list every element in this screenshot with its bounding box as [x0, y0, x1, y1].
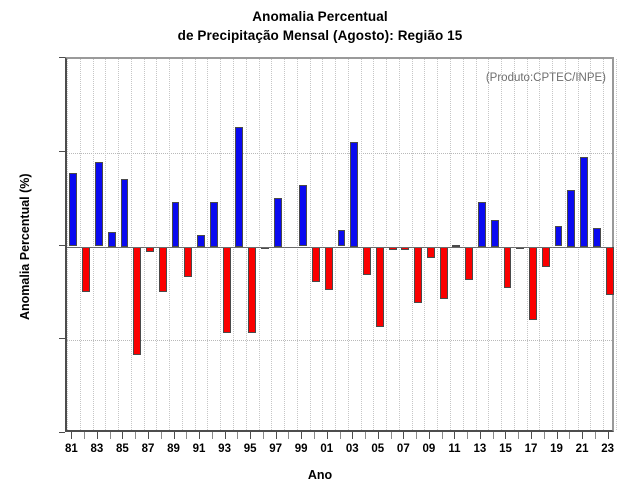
- bar-2019: [555, 226, 563, 247]
- bar-2018: [542, 247, 550, 268]
- x-tick-mark: [237, 432, 238, 439]
- x-tick-mark: [493, 432, 494, 439]
- bar-2020: [567, 190, 575, 246]
- bar-2010: [440, 247, 448, 300]
- bar-2004: [363, 247, 371, 275]
- bar-2000: [312, 247, 320, 283]
- x-tick-mark: [135, 432, 136, 439]
- x-tick-mark: [250, 432, 251, 439]
- x-tick-mark: [480, 432, 481, 439]
- bar-2001: [325, 247, 333, 290]
- x-tick-mark: [454, 432, 455, 439]
- x-tick-mark: [518, 432, 519, 439]
- x-tick-label: 95: [244, 443, 257, 455]
- x-tick-label: 89: [167, 443, 180, 455]
- bar-2009: [427, 247, 435, 258]
- x-tick-mark: [544, 432, 545, 439]
- x-tick-label: 07: [397, 443, 410, 455]
- x-tick-mark: [199, 432, 200, 439]
- x-tick-mark: [276, 432, 277, 439]
- x-tick-mark: [97, 432, 98, 439]
- bar-2012: [465, 247, 473, 281]
- x-tick-mark: [467, 432, 468, 439]
- bar-1989: [172, 202, 180, 247]
- bar-2013: [478, 202, 486, 247]
- bar-2015: [504, 247, 512, 288]
- plot-inner: [67, 59, 612, 430]
- bar-2008: [414, 247, 422, 303]
- x-tick-mark: [314, 432, 315, 439]
- chart-title-line-1: Anomalia Percentual: [0, 7, 640, 26]
- x-tick-label: 19: [550, 443, 563, 455]
- x-tick-mark: [569, 432, 570, 439]
- x-tick-mark: [416, 432, 417, 439]
- bar-2022: [593, 228, 601, 247]
- x-tick-label: 03: [346, 443, 359, 455]
- x-tick-label: 21: [576, 443, 589, 455]
- x-tick-mark: [84, 432, 85, 439]
- bar-1983: [95, 162, 103, 246]
- bar-1985: [121, 179, 129, 247]
- bar-1981: [69, 173, 77, 246]
- bar-2023: [606, 247, 614, 296]
- x-tick-label: 85: [116, 443, 129, 455]
- x-tick-mark: [340, 432, 341, 439]
- x-tick-label: 11: [448, 443, 460, 455]
- bar-1999: [299, 185, 307, 247]
- x-tick-label: 13: [474, 443, 487, 455]
- bar-1992: [210, 202, 218, 247]
- y-axis-label: Anomalia Percentual (%): [18, 173, 32, 320]
- x-tick-label: 97: [269, 443, 282, 455]
- x-tick-label: 17: [525, 443, 538, 455]
- x-tick-mark: [442, 432, 443, 439]
- x-tick-mark: [595, 432, 596, 439]
- chart-figure: Anomalia Percentual de Precipitação Mens…: [0, 0, 640, 500]
- x-tick-mark: [122, 432, 123, 439]
- x-tick-mark: [288, 432, 289, 439]
- x-tick-label: 09: [422, 443, 435, 455]
- bar-1993: [223, 247, 231, 333]
- x-tick-mark: [174, 432, 175, 439]
- x-tick-mark: [71, 432, 72, 439]
- x-tick-label: 05: [371, 443, 384, 455]
- chart-title-line-2: de Precipitação Mensal (Agosto): Região …: [0, 26, 640, 45]
- x-tick-mark: [365, 432, 366, 439]
- y-tick-mark: [59, 432, 65, 433]
- baseline-100: [67, 247, 612, 248]
- x-tick-mark: [327, 432, 328, 439]
- bar-1995: [248, 247, 256, 333]
- x-tick-mark: [403, 432, 404, 439]
- bars-layer: [67, 59, 612, 430]
- bar-1988: [159, 247, 167, 292]
- x-tick-label: 87: [142, 443, 155, 455]
- x-tick-label: 91: [193, 443, 206, 455]
- x-tick-mark: [582, 432, 583, 439]
- bar-2014: [491, 220, 499, 246]
- bar-2021: [580, 157, 588, 247]
- x-tick-mark: [110, 432, 111, 439]
- bar-2005: [376, 247, 384, 328]
- bar-1994: [235, 127, 243, 247]
- bar-1990: [184, 247, 192, 277]
- bar-2003: [350, 142, 358, 247]
- x-tick-mark: [505, 432, 506, 439]
- chart-title: Anomalia Percentual de Precipitação Mens…: [0, 7, 640, 45]
- bar-1984: [108, 232, 116, 247]
- x-tick-mark: [225, 432, 226, 439]
- gridline-vertical: [616, 59, 617, 430]
- product-annotation: (Produto:CPTEC/INPE): [486, 72, 606, 84]
- x-tick-label: 93: [218, 443, 231, 455]
- x-tick-mark: [352, 432, 353, 439]
- x-tick-mark: [212, 432, 213, 439]
- x-tick-mark: [429, 432, 430, 439]
- bar-2017: [529, 247, 537, 320]
- x-tick-label: 81: [65, 443, 78, 455]
- x-tick-mark: [557, 432, 558, 439]
- x-tick-label: 01: [320, 443, 333, 455]
- x-tick-mark: [161, 432, 162, 439]
- bar-1997: [274, 198, 282, 247]
- x-axis-label: Ano: [0, 468, 640, 482]
- bar-1991: [197, 235, 205, 246]
- bar-1986: [133, 247, 141, 356]
- plot-area: (Produto:CPTEC/INPE): [65, 57, 614, 432]
- x-tick-mark: [263, 432, 264, 439]
- x-tick-label: 15: [499, 443, 512, 455]
- x-tick-mark: [301, 432, 302, 439]
- x-tick-label: 99: [295, 443, 308, 455]
- x-tick-mark: [391, 432, 392, 439]
- x-tick-label: 23: [601, 443, 614, 455]
- x-tick-label: 83: [91, 443, 104, 455]
- x-tick-mark: [378, 432, 379, 439]
- x-tick-mark: [531, 432, 532, 439]
- x-tick-mark: [608, 432, 609, 439]
- x-tick-mark: [186, 432, 187, 439]
- bar-1982: [82, 247, 90, 292]
- bar-2002: [338, 230, 346, 247]
- x-tick-mark: [148, 432, 149, 439]
